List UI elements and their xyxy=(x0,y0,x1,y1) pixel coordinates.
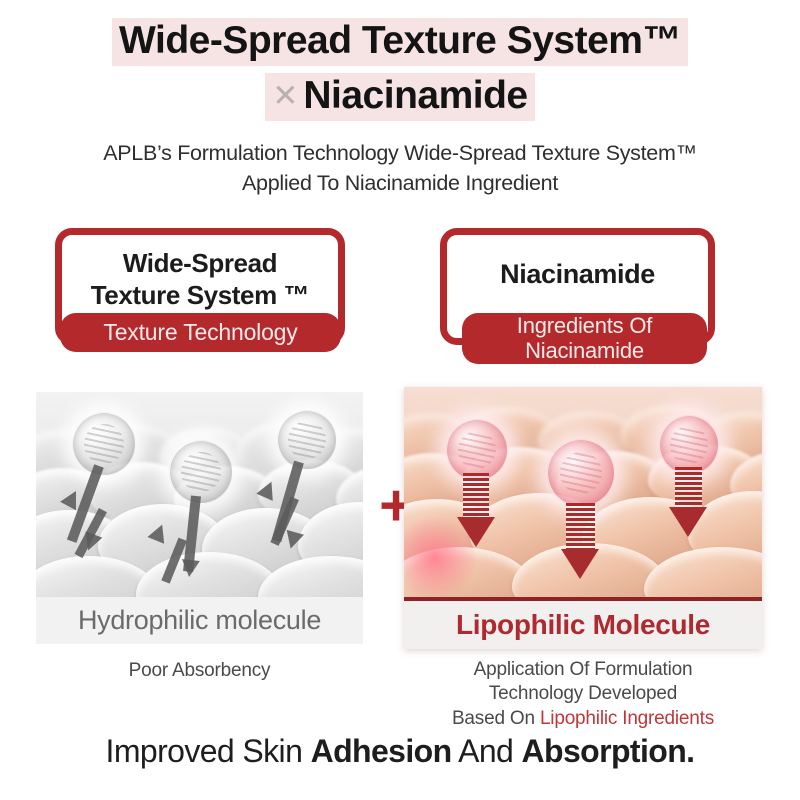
headline-bold-absorption: Absorption. xyxy=(522,733,695,769)
hydrophilic-illustration xyxy=(36,392,363,597)
multiply-icon: ✕ xyxy=(272,78,303,113)
hydrophilic-caption: Hydrophilic molecule xyxy=(36,597,363,644)
lipophilic-caption: Lipophilic Molecule xyxy=(404,597,762,649)
subtitle-line-1: APLB’s Formulation Technology Wide-Sprea… xyxy=(0,138,800,169)
pill-ingredients-of-niacinamide: Ingredients Of Niacinamide xyxy=(462,313,707,364)
lipophilic-footnote-highlight: Lipophilic Ingredients xyxy=(540,708,714,729)
card-texture-system-title-line-2: Texture System ™ xyxy=(62,280,338,312)
lipophilic-caption-label: Lipophilic Molecule xyxy=(456,609,710,641)
card-row: Wide-Spread Texture System ™ Texture Tec… xyxy=(0,225,800,380)
skin-surface-pink xyxy=(404,387,762,597)
hydrophilic-footnote: Poor Absorbency xyxy=(36,660,363,682)
headline-part-1: Improved Skin xyxy=(106,733,311,769)
card-niacinamide-title: Niacinamide xyxy=(447,235,708,290)
lipophilic-molecule-bubble xyxy=(446,419,508,481)
title-block: Wide-Spread Texture System™ ✕Niacinamide xyxy=(0,0,800,121)
lipophilic-illustration xyxy=(404,387,762,597)
hydrophilic-molecule-bubble xyxy=(277,410,337,470)
lipophilic-molecule-bubble xyxy=(547,439,615,507)
pill-texture-technology-label: Texture Technology xyxy=(103,319,297,346)
hydrophilic-molecule-bubble xyxy=(72,412,136,476)
card-texture-system-title: Wide-Spread Texture System ™ xyxy=(62,235,338,311)
pill-niacinamide-label-line-1: Ingredients Of xyxy=(517,314,652,338)
headline-part-2: And xyxy=(452,733,522,769)
lipophilic-footnote-line-3-prefix: Based On xyxy=(452,708,540,729)
hydrophilic-caption-label: Hydrophilic molecule xyxy=(78,605,321,636)
bottom-headline: Improved Skin Adhesion And Absorption. xyxy=(0,733,800,770)
title-text-secondary: ✕Niacinamide xyxy=(265,73,534,121)
title-text-niacinamide: Niacinamide xyxy=(303,74,527,117)
lipophilic-footnote-line-1: Application Of Formulation xyxy=(404,658,762,682)
skin-surface-gray xyxy=(36,392,363,597)
title-line-2: ✕Niacinamide xyxy=(0,73,800,121)
lipophilic-footnote-line-2: Technology Developed xyxy=(404,682,762,706)
pill-texture-technology: Texture Technology xyxy=(60,313,341,352)
lipophilic-footnote: Application Of Formulation Technology De… xyxy=(404,658,762,731)
hydrophilic-molecule-bubble xyxy=(169,440,233,504)
title-line-1: Wide-Spread Texture System™ xyxy=(0,18,800,66)
pill-niacinamide-label-line-2: Niacinamide xyxy=(525,339,644,363)
subtitle-line-2: Applied To Niacinamide Ingredient xyxy=(0,168,800,199)
lipophilic-footnote-line-3: Based On Lipophilic Ingredients xyxy=(404,707,762,731)
panel-lipophilic: Lipophilic Molecule xyxy=(404,387,762,649)
subtitle-block: APLB’s Formulation Technology Wide-Sprea… xyxy=(0,138,800,199)
card-texture-system-title-line-1: Wide-Spread xyxy=(62,248,338,280)
headline-bold-adhesion: Adhesion xyxy=(311,733,452,769)
lipophilic-molecule-bubble xyxy=(659,415,719,475)
poster-root: Wide-Spread Texture System™ ✕Niacinamide… xyxy=(0,0,800,800)
title-text-primary: Wide-Spread Texture System™ xyxy=(112,18,688,66)
card-niacinamide-title-line-1: Niacinamide xyxy=(447,258,708,290)
panel-hydrophilic: Hydrophilic molecule xyxy=(36,392,363,644)
